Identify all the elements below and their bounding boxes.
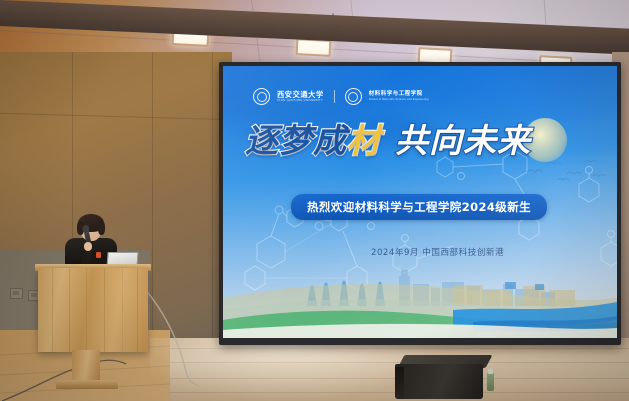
university-name-en: XI'AN JIAOTONG UNIVERSITY xyxy=(277,99,324,102)
monitor-grille xyxy=(395,364,483,399)
logo-divider xyxy=(334,90,335,103)
school-name-cn: 材料科学与工程学院 xyxy=(369,92,429,97)
presentation-screen[interactable]: 西安交通大学 XI'AN JIAOTONG UNIVERSITY 材料科学与工程… xyxy=(219,62,621,345)
headline-phrase-1: 逐梦成材 xyxy=(245,126,381,159)
water-bottle xyxy=(487,373,494,391)
headline-phrase-2: 共向未来 xyxy=(395,126,531,159)
screen-logo-bar: 西安交通大学 XI'AN JIAOTONG UNIVERSITY 材料科学与工程… xyxy=(253,88,429,105)
presenter-badge xyxy=(96,252,101,258)
birds-decoration xyxy=(523,158,613,188)
wooden-podium xyxy=(38,268,148,352)
ceiling-light-3 xyxy=(420,49,451,62)
screen-date-line: 2024年9月 中国西部科技创新港 xyxy=(371,246,504,258)
podium-base xyxy=(56,380,118,389)
welcome-banner-pill: 热烈欢迎材料科学与工程学院2024级新生 xyxy=(291,194,547,220)
school-name-en: School of Materials Science and Engineer… xyxy=(369,99,429,102)
monitor-side xyxy=(395,367,404,399)
headline-gold-char: 材 xyxy=(347,124,381,160)
presenter-hand xyxy=(84,242,92,251)
screen-headline: 逐梦成材 共向未来 xyxy=(245,126,601,159)
lecture-hall-photo: 西安交通大学 XI'AN JIAOTONG UNIVERSITY 材料科学与工程… xyxy=(0,0,629,401)
ceiling-light-2 xyxy=(298,40,330,55)
university-name-cn: 西安交通大学 xyxy=(277,91,324,98)
school-logo-icon xyxy=(345,88,362,105)
xjtu-logo-icon xyxy=(253,88,270,105)
podium-stem xyxy=(72,350,100,384)
stage-monitor-speaker xyxy=(395,355,489,399)
screen-content: 西安交通大学 XI'AN JIAOTONG UNIVERSITY 材料科学与工程… xyxy=(223,66,617,338)
wall-socket xyxy=(10,288,23,299)
welcome-banner-text: 热烈欢迎材料科学与工程学院2024级新生 xyxy=(307,199,531,215)
wave-graphics xyxy=(223,258,617,338)
